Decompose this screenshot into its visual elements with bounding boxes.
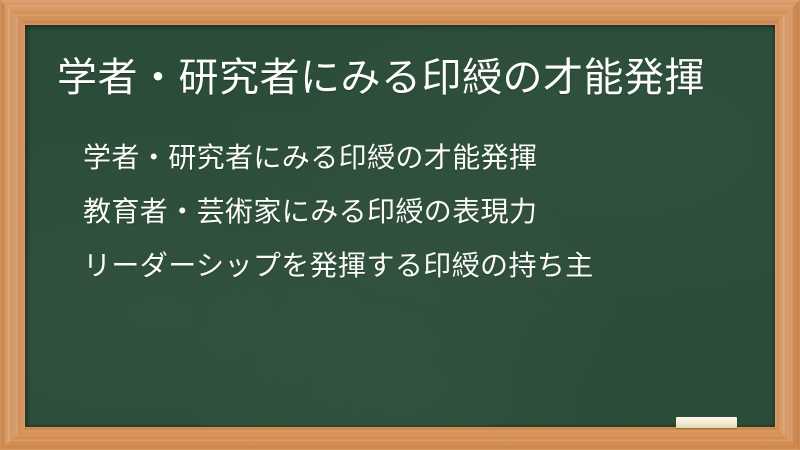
frame-rail-bottom-ledge bbox=[0, 427, 800, 450]
board-line-list: 学者・研究者にみる印綬の才能発揮 教育者・芸術家にみる印綬の表現力 リーダーシッ… bbox=[83, 131, 763, 293]
wood-grain-top bbox=[0, 0, 800, 25]
chalkboard-frame: 学者・研究者にみる印綬の才能発揮 学者・研究者にみる印綬の才能発揮 教育者・芸術… bbox=[0, 0, 800, 450]
frame-rail-top bbox=[0, 0, 800, 25]
board-title: 学者・研究者にみる印綬の才能発揮 bbox=[57, 52, 757, 104]
frame-rail-right bbox=[775, 0, 800, 450]
frame-rail-left bbox=[0, 0, 25, 450]
wood-grain-bottom bbox=[0, 427, 800, 450]
wood-grain-left bbox=[0, 0, 25, 450]
board-line-item: 教育者・芸術家にみる印綬の表現力 bbox=[83, 185, 763, 239]
board-line-item: 学者・研究者にみる印綬の才能発揮 bbox=[83, 131, 763, 185]
chalk-stick-icon bbox=[676, 417, 737, 428]
board-line-item: リーダーシップを発揮する印綬の持ち主 bbox=[83, 239, 763, 293]
wood-grain-right bbox=[775, 0, 800, 450]
chalkboard-surface: 学者・研究者にみる印綬の才能発揮 学者・研究者にみる印綬の才能発揮 教育者・芸術… bbox=[25, 25, 775, 427]
